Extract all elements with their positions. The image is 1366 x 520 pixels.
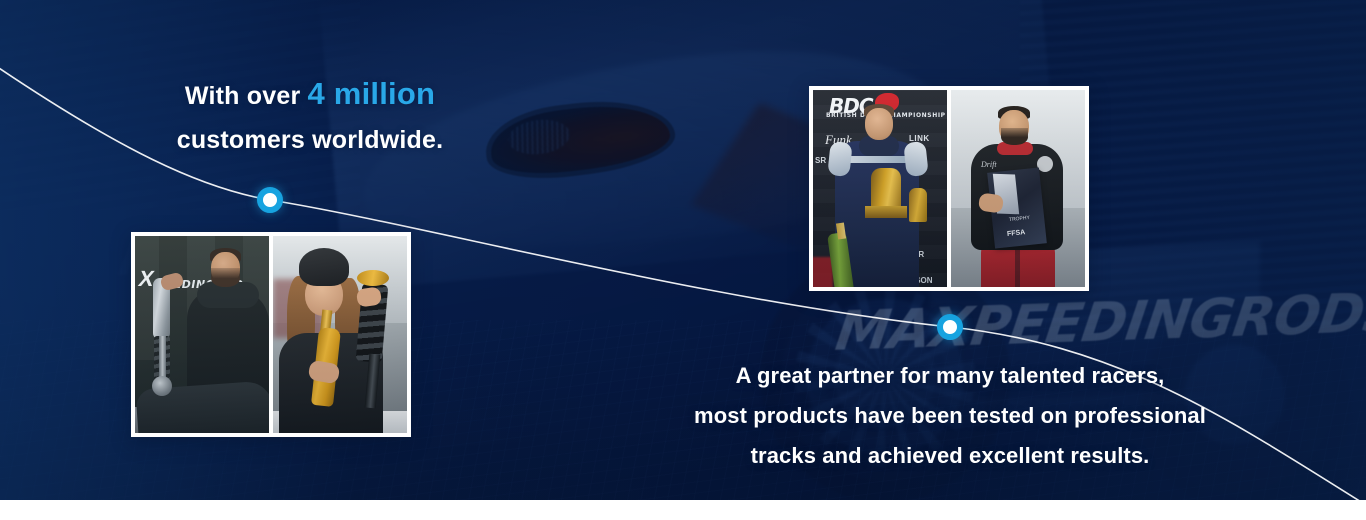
- promotional-banner: RODS MAXPEEDINGRODS With over 4 million …: [0, 0, 1366, 520]
- headline-block: With over 4 million customers worldwide.: [100, 72, 520, 162]
- person-beard: [211, 268, 240, 287]
- driver-beard: [1001, 128, 1028, 145]
- headline-line-2: customers worldwide.: [100, 118, 520, 162]
- sponsor-logo-3: SR: [815, 156, 826, 165]
- headline-highlight: 4 million: [308, 76, 436, 111]
- photo-driver-with-trophy[interactable]: BDC BRITISH DRIFT CHAMPIONSHIP Funk LINK…: [813, 90, 947, 287]
- hoodie-badge: [1037, 156, 1053, 172]
- photo-woman-with-coilovers[interactable]: [273, 236, 407, 433]
- coilover-mount: [152, 376, 172, 396]
- timeline-node-2[interactable]: [937, 314, 963, 340]
- tagline-line-3: tracks and achieved excellent results.: [690, 436, 1210, 476]
- photo-collage-left[interactable]: X PEEDINGROD: [131, 232, 411, 437]
- tagline-line-1: A great partner for many talented racers…: [690, 356, 1210, 396]
- headline-prefix: With over: [185, 82, 300, 110]
- secondary-trophy: [909, 188, 927, 222]
- coilover-rod: [159, 336, 166, 378]
- photo-man-with-coilover[interactable]: X PEEDINGROD: [135, 236, 269, 433]
- photo-driver-with-plaque[interactable]: Drift TROPHY FFSA: [951, 90, 1085, 287]
- trophy-base: [865, 206, 907, 218]
- tagline-block: A great partner for many talented racers…: [690, 356, 1210, 476]
- hoodie-chest-text: Drift: [981, 160, 997, 169]
- timeline-node-1[interactable]: [257, 187, 283, 213]
- black-coilover-top-mount: [357, 270, 389, 286]
- tagline-line-2: most products have been tested on profes…: [690, 396, 1210, 436]
- racing-suit-shoulder-right: [903, 141, 928, 177]
- beanie-hat: [299, 248, 349, 286]
- driver-head: [865, 108, 893, 140]
- photo-collage-right[interactable]: BDC BRITISH DRIFT CHAMPIONSHIP Funk LINK…: [809, 86, 1089, 291]
- bottom-white-strip: [0, 500, 1366, 520]
